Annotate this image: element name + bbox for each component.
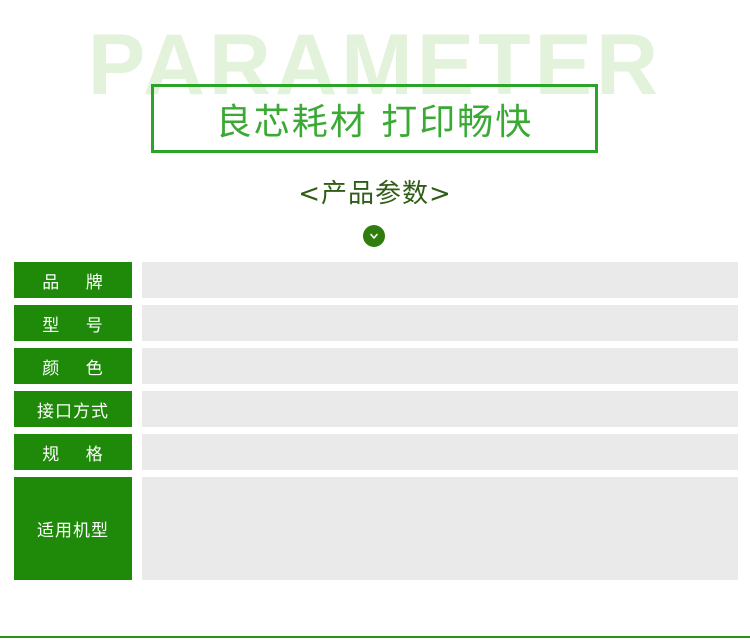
param-value-brand <box>142 262 738 298</box>
param-label-interface: 接口方式 <box>14 391 132 427</box>
param-label-text: 接口方式 <box>37 397 109 422</box>
page-title: 良芯耗材 打印畅快 <box>216 93 533 145</box>
param-label-model: 型 号 <box>14 305 132 341</box>
section-subtitle: <产品参数> <box>0 173 750 210</box>
table-row: 品 牌 <box>0 262 750 298</box>
param-label-compatible-models: 适用机型 <box>14 477 132 580</box>
param-label-color: 颜 色 <box>14 348 132 384</box>
param-label-spec: 规 格 <box>14 434 132 470</box>
chevron-down-icon[interactable] <box>363 225 385 247</box>
param-label-text: 型 号 <box>42 311 104 336</box>
param-label-text: 颜 色 <box>42 354 104 379</box>
param-label-brand: 品 牌 <box>14 262 132 298</box>
table-row: 适用机型 <box>0 477 750 580</box>
bottom-divider <box>0 636 750 638</box>
table-row: 规 格 <box>0 434 750 470</box>
table-row: 型 号 <box>0 305 750 341</box>
param-value-color <box>142 348 738 384</box>
parameter-table: 品 牌 型 号 颜 色 接口方式 规 格 <box>0 262 750 587</box>
param-value-compatible-models <box>142 477 738 580</box>
param-value-model <box>142 305 738 341</box>
param-label-text: 品 牌 <box>42 268 104 293</box>
title-box: 良芯耗材 打印畅快 <box>151 84 598 153</box>
banner-header: PARAMETER 良芯耗材 打印畅快 <产品参数> <box>0 0 750 262</box>
parameter-page: PARAMETER 良芯耗材 打印畅快 <产品参数> 品 牌 型 号 <box>0 0 750 641</box>
param-label-text: 规 格 <box>42 440 104 465</box>
param-value-interface <box>142 391 738 427</box>
table-row: 接口方式 <box>0 391 750 427</box>
param-value-spec <box>142 434 738 470</box>
table-row: 颜 色 <box>0 348 750 384</box>
param-label-text: 适用机型 <box>37 516 109 541</box>
